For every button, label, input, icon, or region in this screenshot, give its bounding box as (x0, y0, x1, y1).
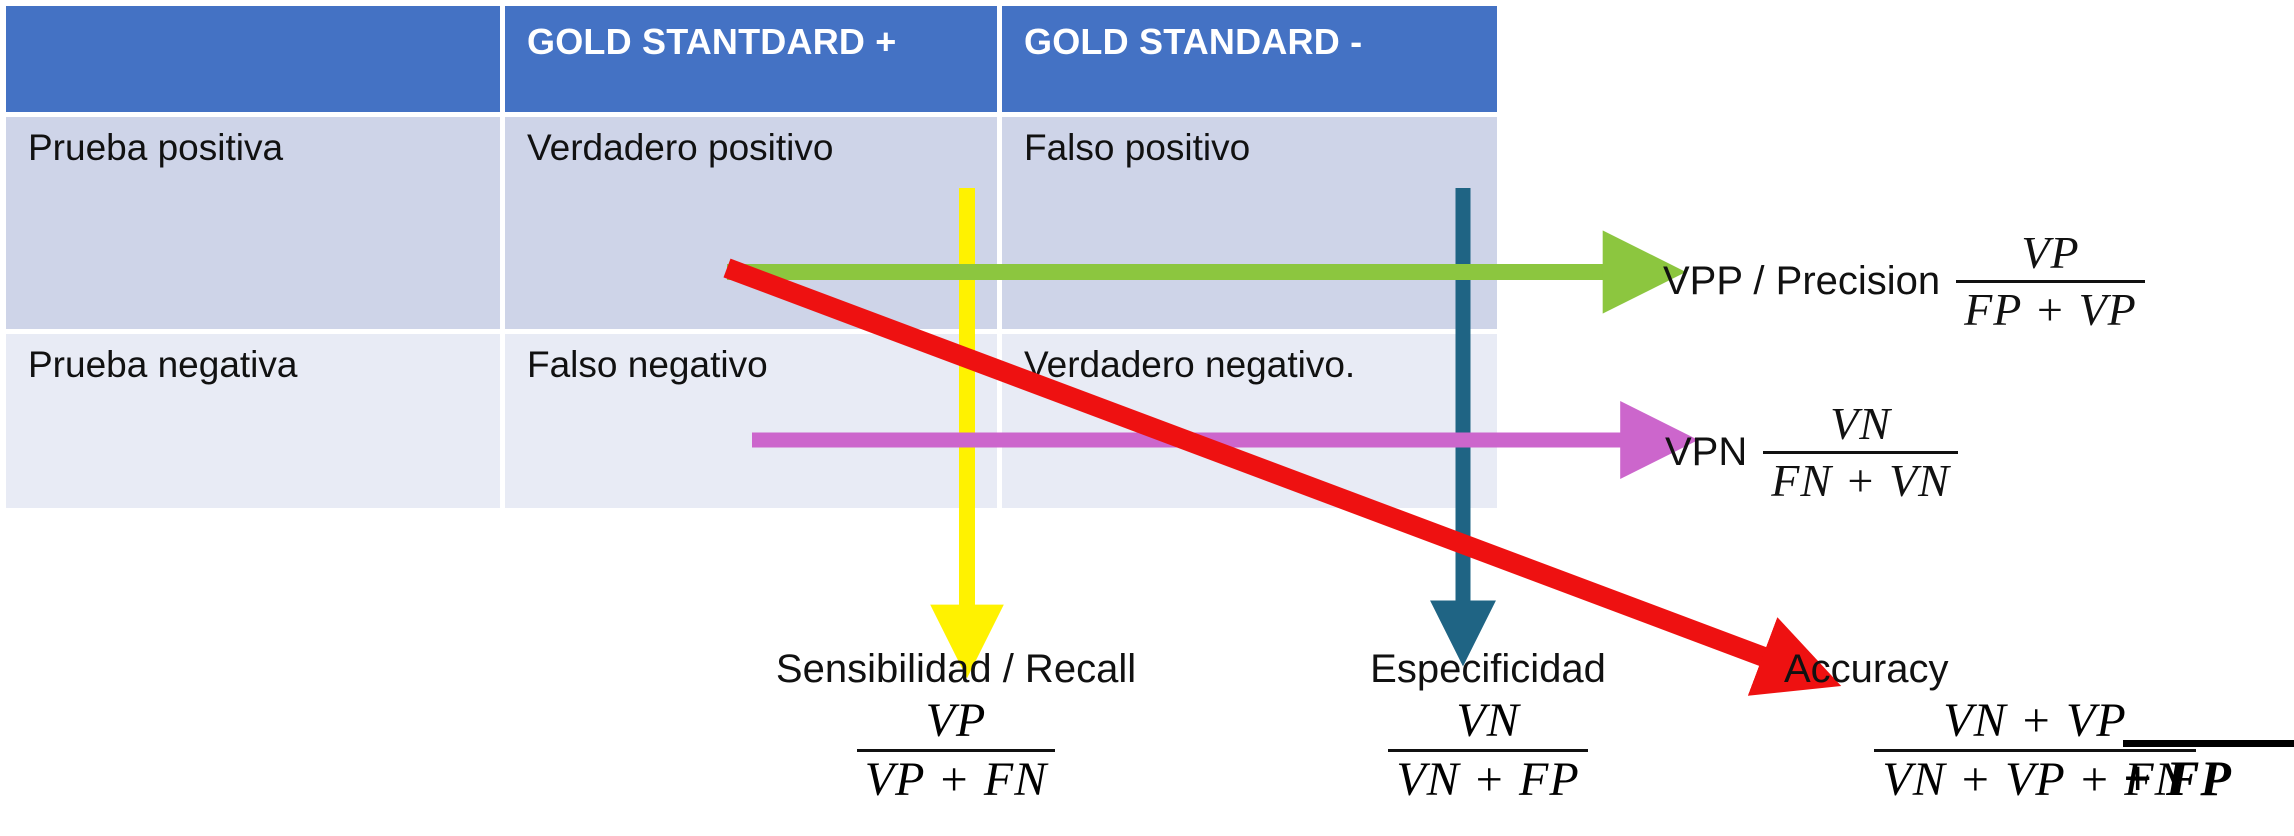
metric-vpp-denominator: FP + VP (1956, 280, 2145, 335)
metric-sensibilidad-denominator: VP + FN (857, 749, 1056, 806)
column-header-gold-standard-negative: GOLD STANDARD - (1002, 6, 1497, 117)
table-header-row: GOLD STANTDARD + GOLD STANDARD - (6, 6, 1497, 117)
row-header-prueba-negativa: Prueba negativa (6, 334, 505, 508)
metric-sensibilidad-numerator: VP (857, 696, 1056, 749)
cell-label-false-positive: Falso positivo (1002, 117, 1497, 170)
table-corner-label (6, 6, 500, 22)
metric-sensibilidad-group: Sensibilidad / Recall VP VP + FN (716, 647, 1196, 806)
table-row: Prueba positiva Verdadero positivo Falso… (6, 117, 1497, 334)
metric-accuracy-denominator-overstrike: + FP (2123, 740, 2294, 807)
metric-vpn-label: VPN (1665, 430, 1747, 475)
row-header-label-prueba-positiva: Prueba positiva (6, 117, 500, 170)
cell-label-false-negative: Falso negativo (505, 334, 997, 387)
cell-true-negative: Verdadero negativo. (1002, 334, 1497, 508)
table-row: Prueba negativa Falso negativo Verdadero… (6, 334, 1497, 508)
metric-vpn-formula: VN FN + VN (1763, 400, 1958, 506)
row-header-label-prueba-negativa: Prueba negativa (6, 334, 500, 387)
diagram-canvas: GOLD STANTDARD + GOLD STANDARD - Prueba … (0, 0, 2294, 836)
metric-vpp-group: VPP / Precision VP FP + VP (1663, 229, 2145, 335)
cell-label-true-positive: Verdadero positivo (505, 117, 997, 170)
cell-true-positive: Verdadero positivo (505, 117, 1002, 334)
metric-especificidad-denominator: VN + FP (1388, 749, 1587, 806)
column-header-label-negative: GOLD STANDARD - (1002, 6, 1497, 62)
cell-false-positive: Falso positivo (1002, 117, 1497, 334)
metric-especificidad-group: Especificidad VN VN + FP (1278, 647, 1698, 806)
metric-sensibilidad-formula: VP VP + FN (857, 696, 1056, 806)
metric-vpp-formula: VP FP + VP (1956, 229, 2145, 335)
metric-especificidad-label: Especificidad (1278, 647, 1698, 692)
confusion-matrix-table: GOLD STANTDARD + GOLD STANDARD - Prueba … (6, 6, 1497, 508)
metric-especificidad-formula: VN VN + FP (1388, 696, 1587, 806)
table-corner-cell (6, 6, 505, 117)
cell-label-true-negative: Verdadero negativo. (1002, 334, 1497, 387)
metric-vpn-group: VPN VN FN + VN (1665, 400, 1958, 506)
metric-vpn-numerator: VN (1763, 400, 1958, 451)
metric-vpn-denominator: FN + VN (1763, 451, 1958, 506)
metric-vpp-label: VPP / Precision (1663, 259, 1940, 304)
column-header-gold-standard-positive: GOLD STANTDARD + (505, 6, 1002, 117)
metric-vpp-numerator: VP (1956, 229, 2145, 280)
metric-accuracy-label: Accuracy (1776, 647, 2294, 692)
cell-false-negative: Falso negativo (505, 334, 1002, 508)
column-header-label-positive: GOLD STANTDARD + (505, 6, 997, 62)
overstrike-text: + FP (2123, 750, 2232, 806)
metric-sensibilidad-label: Sensibilidad / Recall (716, 647, 1196, 692)
overstrike-bar (2123, 740, 2294, 747)
metric-especificidad-numerator: VN (1388, 696, 1587, 749)
row-header-prueba-positiva: Prueba positiva (6, 117, 505, 334)
